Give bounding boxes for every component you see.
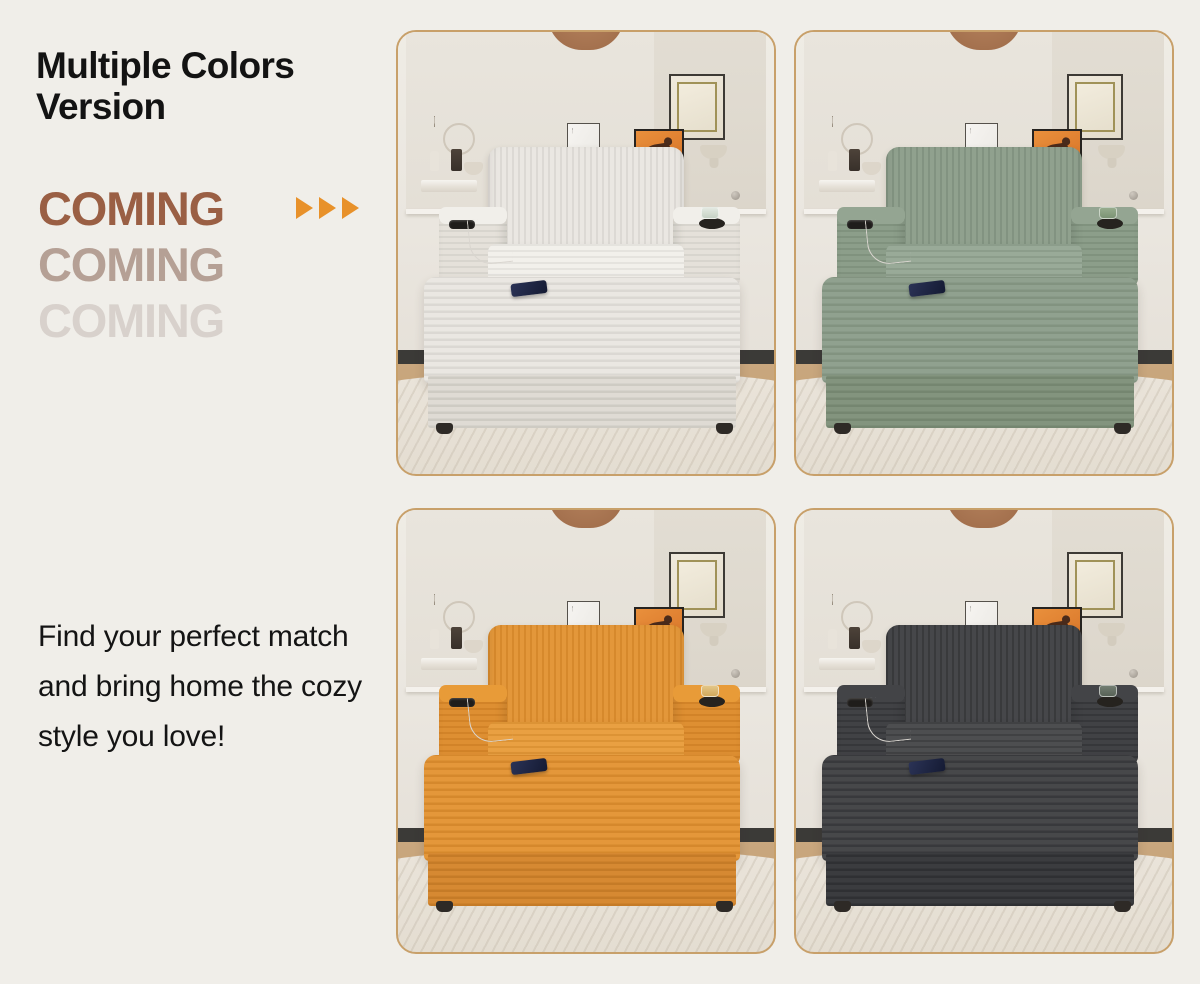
sofa-chaise-extension	[822, 755, 1138, 861]
room-scene	[398, 510, 774, 952]
chaise-sofa	[796, 32, 1172, 474]
sofa-foot-right	[716, 423, 733, 434]
sofa-storage-base	[826, 375, 1134, 428]
sofa-backrest	[488, 147, 684, 258]
cup-holder	[699, 218, 725, 229]
coming-label-2: COMING	[38, 241, 224, 288]
copy-column: Multiple Colors Version COMING COMING CO…	[0, 0, 392, 984]
cup-holder	[1097, 696, 1123, 707]
sofa-backrest	[488, 625, 684, 736]
color-variant-gallery	[396, 30, 1174, 954]
sofa-foot-left	[834, 423, 851, 434]
chaise-sofa	[398, 32, 774, 474]
page-title: Multiple Colors Version	[36, 45, 376, 128]
sofa-storage-base	[428, 375, 736, 428]
sofa-foot-left	[436, 901, 453, 912]
coming-label-3: COMING	[38, 297, 224, 344]
room-scene	[796, 32, 1172, 474]
arrow-right-icon	[296, 197, 313, 219]
panel-dark[interactable]	[794, 508, 1174, 954]
chaise-sofa	[398, 510, 774, 952]
sofa-foot-right	[1114, 423, 1131, 434]
sofa-backrest	[886, 625, 1082, 736]
panel-orange[interactable]	[396, 508, 776, 954]
panel-green[interactable]	[794, 30, 1174, 476]
panel-ivory[interactable]	[396, 30, 776, 476]
room-scene	[796, 510, 1172, 952]
drinking-glass-prop	[1099, 685, 1117, 697]
coming-label-1: COMING	[38, 185, 224, 232]
arrow-right-icon	[342, 197, 359, 219]
sofa-storage-base	[428, 853, 736, 906]
sofa-chaise-extension	[424, 755, 740, 861]
drinking-glass-prop	[1099, 207, 1117, 219]
arrow-group	[296, 197, 359, 219]
coming-line-3: COMING	[38, 297, 388, 353]
drinking-glass-prop	[701, 685, 719, 697]
chaise-sofa	[796, 510, 1172, 952]
coming-soon-stack: COMING COMING COMING	[38, 185, 388, 353]
sofa-chaise-extension	[424, 277, 740, 383]
sofa-chaise-extension	[822, 277, 1138, 383]
sofa-foot-left	[834, 901, 851, 912]
coming-line-2: COMING	[38, 241, 388, 297]
sofa-foot-right	[716, 901, 733, 912]
cup-holder	[1097, 218, 1123, 229]
room-scene	[398, 32, 774, 474]
sofa-foot-right	[1114, 901, 1131, 912]
tagline-text: Find your perfect match and bring home t…	[38, 612, 368, 761]
sofa-storage-base	[826, 853, 1134, 906]
sofa-backrest	[886, 147, 1082, 258]
cup-holder	[699, 696, 725, 707]
arrow-right-icon	[319, 197, 336, 219]
drinking-glass-prop	[701, 207, 719, 219]
coming-line-1: COMING	[38, 185, 388, 241]
sofa-foot-left	[436, 423, 453, 434]
